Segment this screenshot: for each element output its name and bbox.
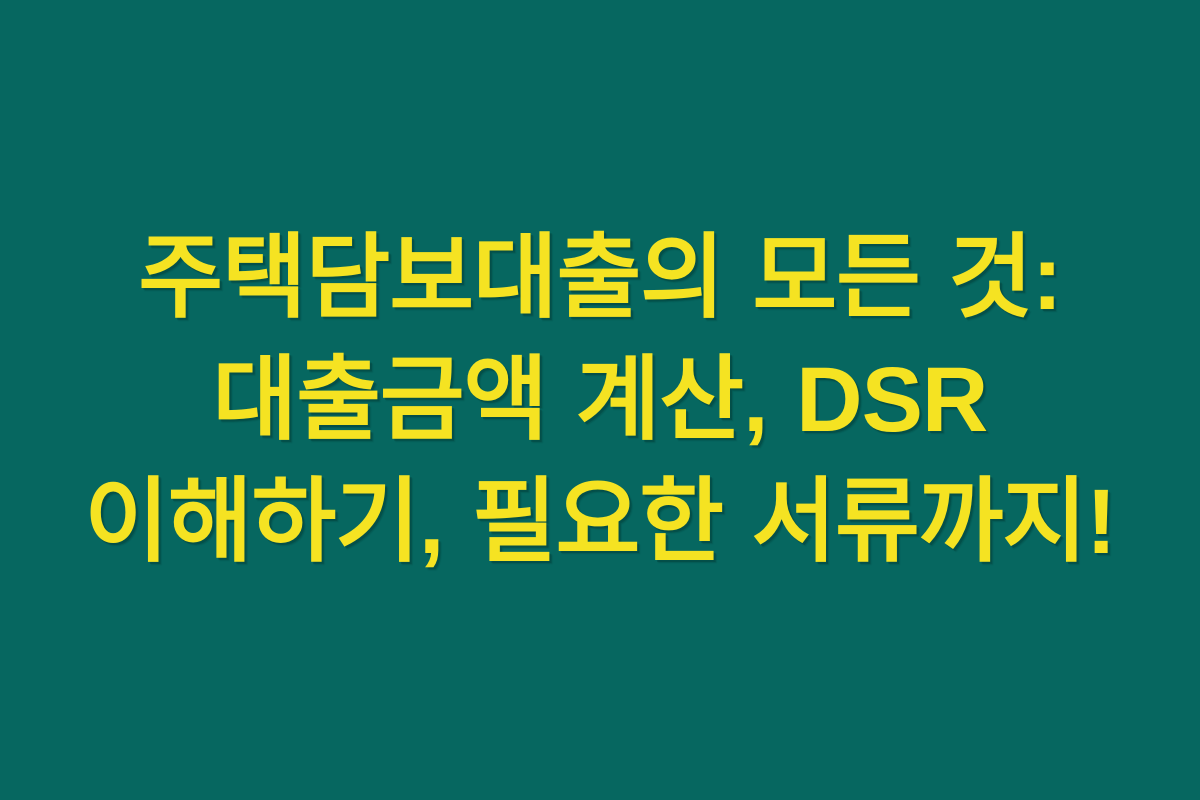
headline-line-2: 대출금액 계산, DSR — [40, 339, 1160, 461]
headline-line-1: 주택담보대출의 모든 것: — [40, 217, 1160, 339]
headline-line-3: 이해하기, 필요한 서류까지! — [40, 461, 1160, 583]
page-title: 주택담보대출의 모든 것: 대출금액 계산, DSR 이해하기, 필요한 서류까… — [40, 217, 1160, 583]
banner-canvas: 주택담보대출의 모든 것: 대출금액 계산, DSR 이해하기, 필요한 서류까… — [0, 0, 1200, 800]
